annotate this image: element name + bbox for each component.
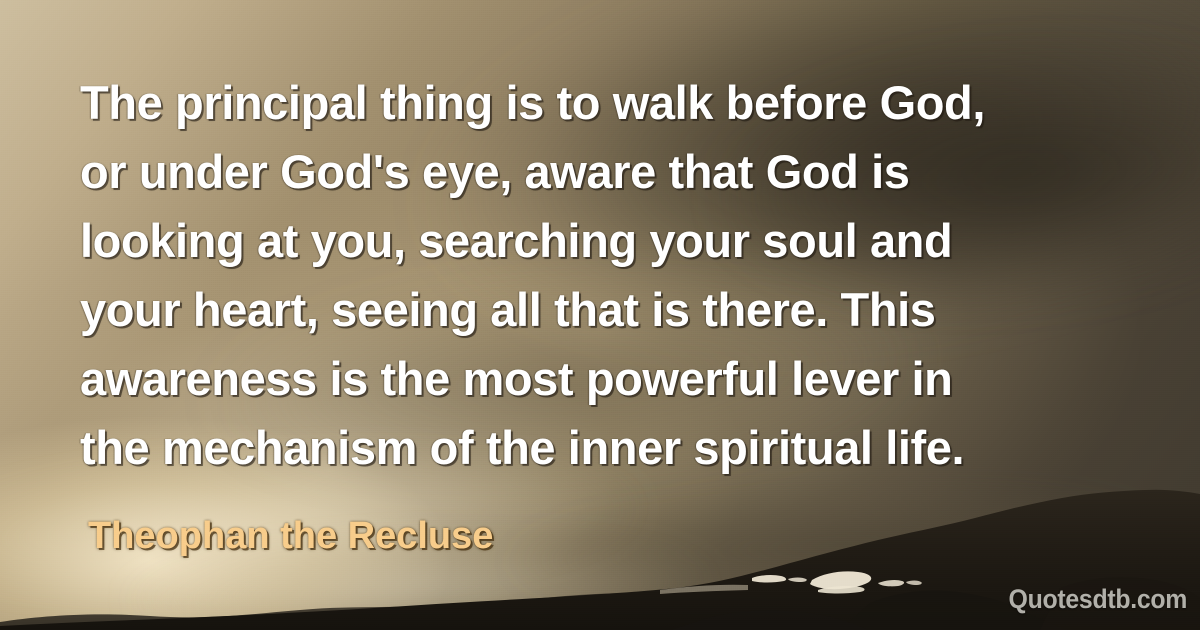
quote-card: The principal thing is to walk before Go… (0, 0, 1200, 630)
film-grain-overlay (0, 0, 1200, 630)
